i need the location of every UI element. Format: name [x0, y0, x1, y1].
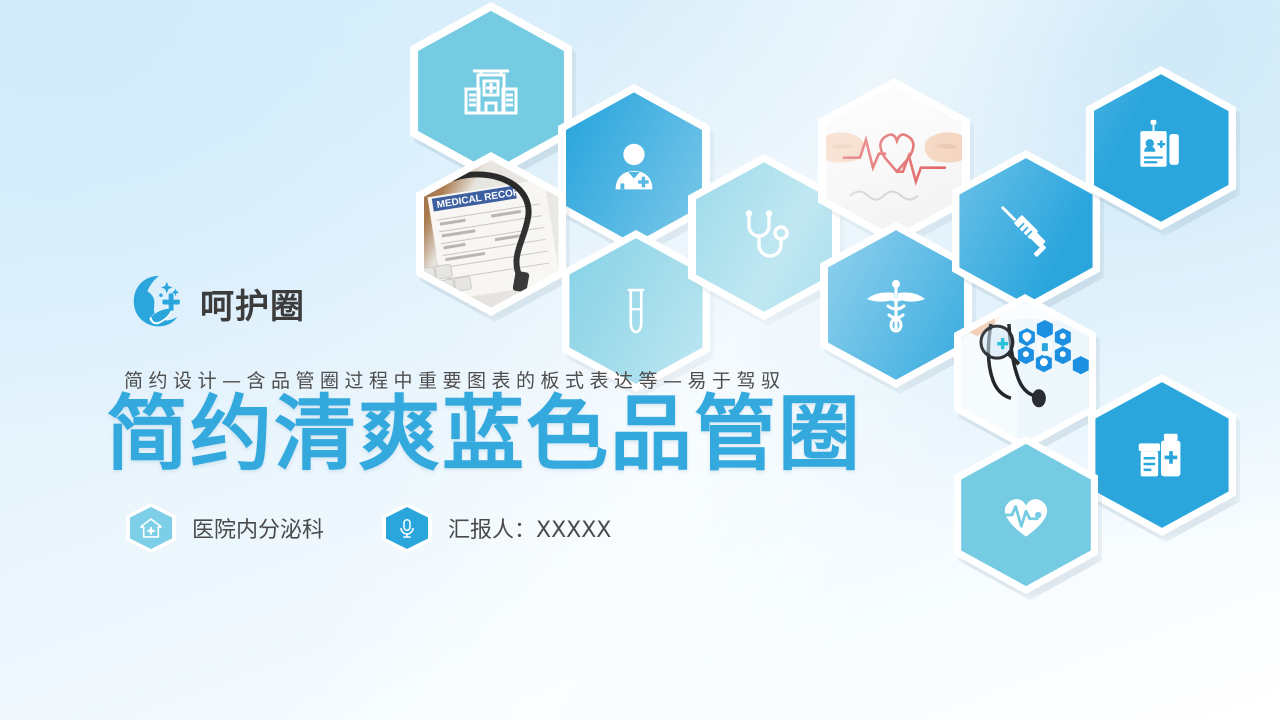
presenter-badge — [382, 503, 432, 553]
hands-heart-ecg-photo-detail — [826, 86, 963, 235]
department-badge — [126, 503, 176, 553]
hospital-icon — [459, 59, 523, 123]
meta-item-department[interactable]: 医院内分泌科 — [126, 503, 324, 553]
patient-card-icon — [1131, 118, 1191, 178]
test-tube-icon — [608, 282, 664, 340]
meta-item-presenter[interactable]: 汇报人：XXXXX — [382, 503, 611, 553]
presentation-slide: MEDICAL RECORD — [0, 0, 1280, 720]
syringe-icon — [995, 200, 1057, 262]
stethoscope-icon — [732, 205, 796, 269]
presenter-label: 汇报人：XXXXX — [448, 512, 611, 544]
doctor-tech-photo-detail — [961, 302, 1089, 442]
slide-title: 简约清爽蓝色品管圈 — [106, 392, 862, 478]
caduceus-icon — [864, 273, 928, 337]
department-label: 医院内分泌科 — [192, 512, 324, 544]
medical-record-photo-detail: MEDICAL RECORD — [424, 160, 559, 308]
brand-logo-text: 呵护圈 — [200, 279, 305, 328]
heart-pulse-icon — [996, 485, 1056, 545]
microphone-icon — [395, 516, 419, 540]
hospital-home-icon — [138, 515, 164, 541]
care-circle-logo-icon — [128, 272, 190, 334]
brand-logo[interactable]: 呵护圈 — [128, 272, 305, 334]
slide-meta: 医院内分泌科 汇报人：XXXXX — [126, 503, 611, 553]
medicine-bottles-icon — [1131, 424, 1193, 486]
doctor-icon — [603, 137, 665, 199]
